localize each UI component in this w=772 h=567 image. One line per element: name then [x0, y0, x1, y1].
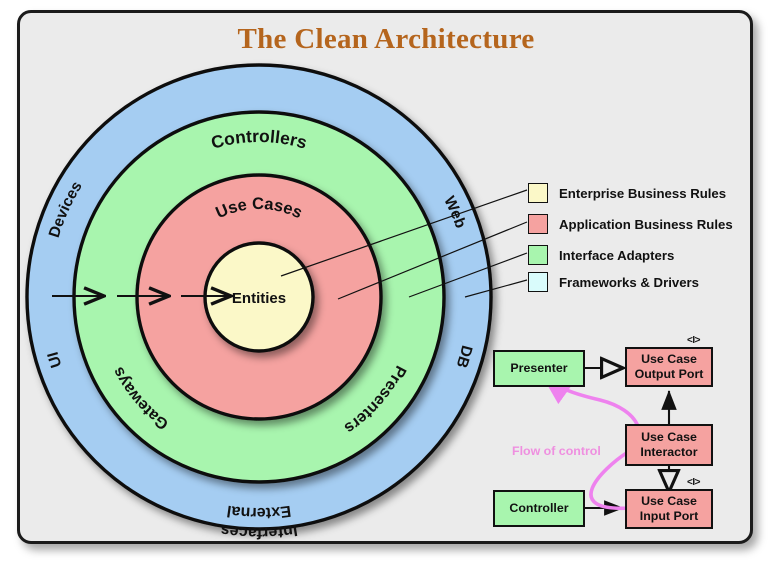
flow-box-presenter[interactable]: Presenter — [493, 350, 585, 387]
flow-box-interactor-line2: Interactor — [640, 445, 697, 460]
legend-swatch-interface-adapters — [528, 245, 548, 265]
legend-label-enterprise-business-rules: Enterprise Business Rules — [559, 186, 726, 201]
ring-label-external-line1-text: External — [226, 502, 292, 521]
legend-item-application-business-rules[interactable]: Application Business Rules — [528, 213, 733, 235]
flow-box-controller-label: Controller — [509, 501, 568, 516]
flow-box-interactor-line1: Use Case — [641, 430, 697, 445]
ring-label-entities: Entities — [232, 290, 286, 307]
flow-box-use-case-input-port[interactable]: Use Case Input Port — [625, 489, 713, 529]
legend-swatch-frameworks-drivers — [528, 272, 548, 292]
flow-box-output-port-line2: Output Port — [635, 367, 704, 382]
legend-label-interface-adapters: Interface Adapters — [559, 248, 674, 263]
legend-label-frameworks-drivers: Frameworks & Drivers — [559, 275, 699, 290]
flow-box-use-case-interactor[interactable]: Use Case Interactor — [625, 424, 713, 466]
flow-box-controller[interactable]: Controller — [493, 490, 585, 527]
legend-swatch-enterprise-business-rules — [528, 183, 548, 203]
interface-marker-output-port: <I> — [687, 335, 700, 346]
legend-item-interface-adapters[interactable]: Interface Adapters — [528, 244, 674, 266]
flow-box-input-port-line1: Use Case — [641, 494, 697, 509]
legend-swatch-application-business-rules — [528, 214, 548, 234]
flow-box-presenter-label: Presenter — [510, 361, 567, 376]
flow-box-use-case-output-port[interactable]: Use Case Output Port — [625, 347, 713, 387]
flow-box-output-port-line1: Use Case — [641, 352, 697, 367]
legend-item-frameworks-drivers[interactable]: Frameworks & Drivers — [528, 271, 699, 293]
interface-marker-input-port: <I> — [687, 477, 700, 488]
flow-of-control-label: Flow of control — [512, 444, 601, 458]
legend-item-enterprise-business-rules[interactable]: Enterprise Business Rules — [528, 182, 726, 204]
legend-label-application-business-rules: Application Business Rules — [559, 217, 733, 232]
flow-box-input-port-line2: Input Port — [640, 509, 699, 524]
ring-label-external-interfaces-line1: External — [226, 502, 292, 521]
diagram-stage: The Clean Architecture — [0, 0, 772, 567]
